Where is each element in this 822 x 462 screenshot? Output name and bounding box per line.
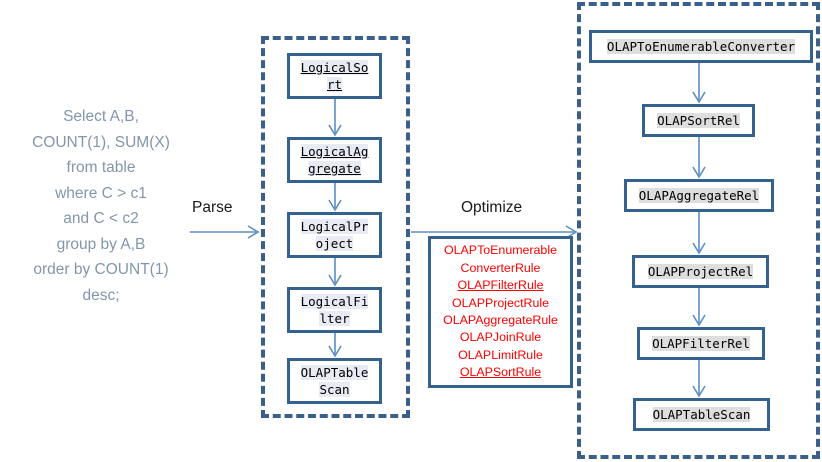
node-logical-filter-label: LogicalFi lter — [301, 293, 369, 327]
node-logical-sort[interactable]: LogicalSo rt — [287, 53, 382, 99]
node-logical-aggregate[interactable]: LogicalAg gregate — [287, 137, 382, 183]
node-logical-aggregate-label: LogicalAg gregate — [301, 143, 369, 177]
node-olap-filter-rel-label: OLAPFilterRel — [652, 335, 750, 352]
optimizer-rules-box: OLAPToEnumerable ConverterRule OLAPFilte… — [428, 236, 573, 388]
node-olap-filter-rel[interactable]: OLAPFilterRel — [637, 327, 765, 360]
node-olap-project-rel[interactable]: OLAPProjectRel — [632, 255, 769, 288]
rule-olap-aggregate: OLAPAggregateRule — [443, 312, 558, 329]
optimize-label: Optimize — [461, 199, 522, 217]
physical-plan-container — [577, 2, 820, 459]
node-logical-filter[interactable]: LogicalFi lter — [287, 287, 382, 333]
rule-olap-to-enumerable-converter: OLAPToEnumerable ConverterRule — [443, 242, 558, 277]
node-olap-table-scan-logical-label: OLAPTable Scan — [301, 364, 369, 398]
rule-olap-sort: OLAPSortRule — [443, 364, 558, 381]
node-olap-to-enumerable-converter-label: OLAPToEnumerableConverter — [607, 38, 795, 55]
rule-olap-join: OLAPJoinRule — [443, 329, 558, 346]
node-olap-sort-rel[interactable]: OLAPSortRel — [642, 104, 755, 137]
node-olap-sort-rel-label: OLAPSortRel — [657, 112, 740, 129]
rule-olap-limit: OLAPLimitRule — [443, 347, 558, 364]
sql-query-text: Select A,B, COUNT(1), SUM(X) from table … — [6, 104, 196, 308]
rule-olap-filter: OLAPFilterRule — [443, 277, 558, 294]
node-olap-to-enumerable-converter[interactable]: OLAPToEnumerableConverter — [589, 30, 813, 63]
node-logical-sort-label: LogicalSo rt — [301, 59, 369, 93]
node-olap-aggregate-rel[interactable]: OLAPAggregateRel — [624, 179, 774, 212]
rule-olap-project: OLAPProjectRule — [443, 295, 558, 312]
diagram-canvas: Select A,B, COUNT(1), SUM(X) from table … — [0, 0, 822, 462]
node-logical-project-label: LogicalPr oject — [301, 218, 369, 252]
node-olap-project-rel-label: OLAPProjectRel — [648, 263, 753, 280]
node-logical-project[interactable]: LogicalPr oject — [287, 212, 382, 258]
parse-arrow — [190, 224, 262, 240]
node-olap-aggregate-rel-label: OLAPAggregateRel — [639, 187, 759, 204]
node-olap-table-scan-physical-label: OLAPTableScan — [653, 406, 751, 423]
node-olap-table-scan-logical[interactable]: OLAPTable Scan — [287, 358, 382, 404]
parse-label: Parse — [192, 199, 233, 217]
optimizer-rules-list: OLAPToEnumerable ConverterRule OLAPFilte… — [443, 242, 558, 381]
node-olap-table-scan-physical[interactable]: OLAPTableScan — [633, 398, 770, 431]
